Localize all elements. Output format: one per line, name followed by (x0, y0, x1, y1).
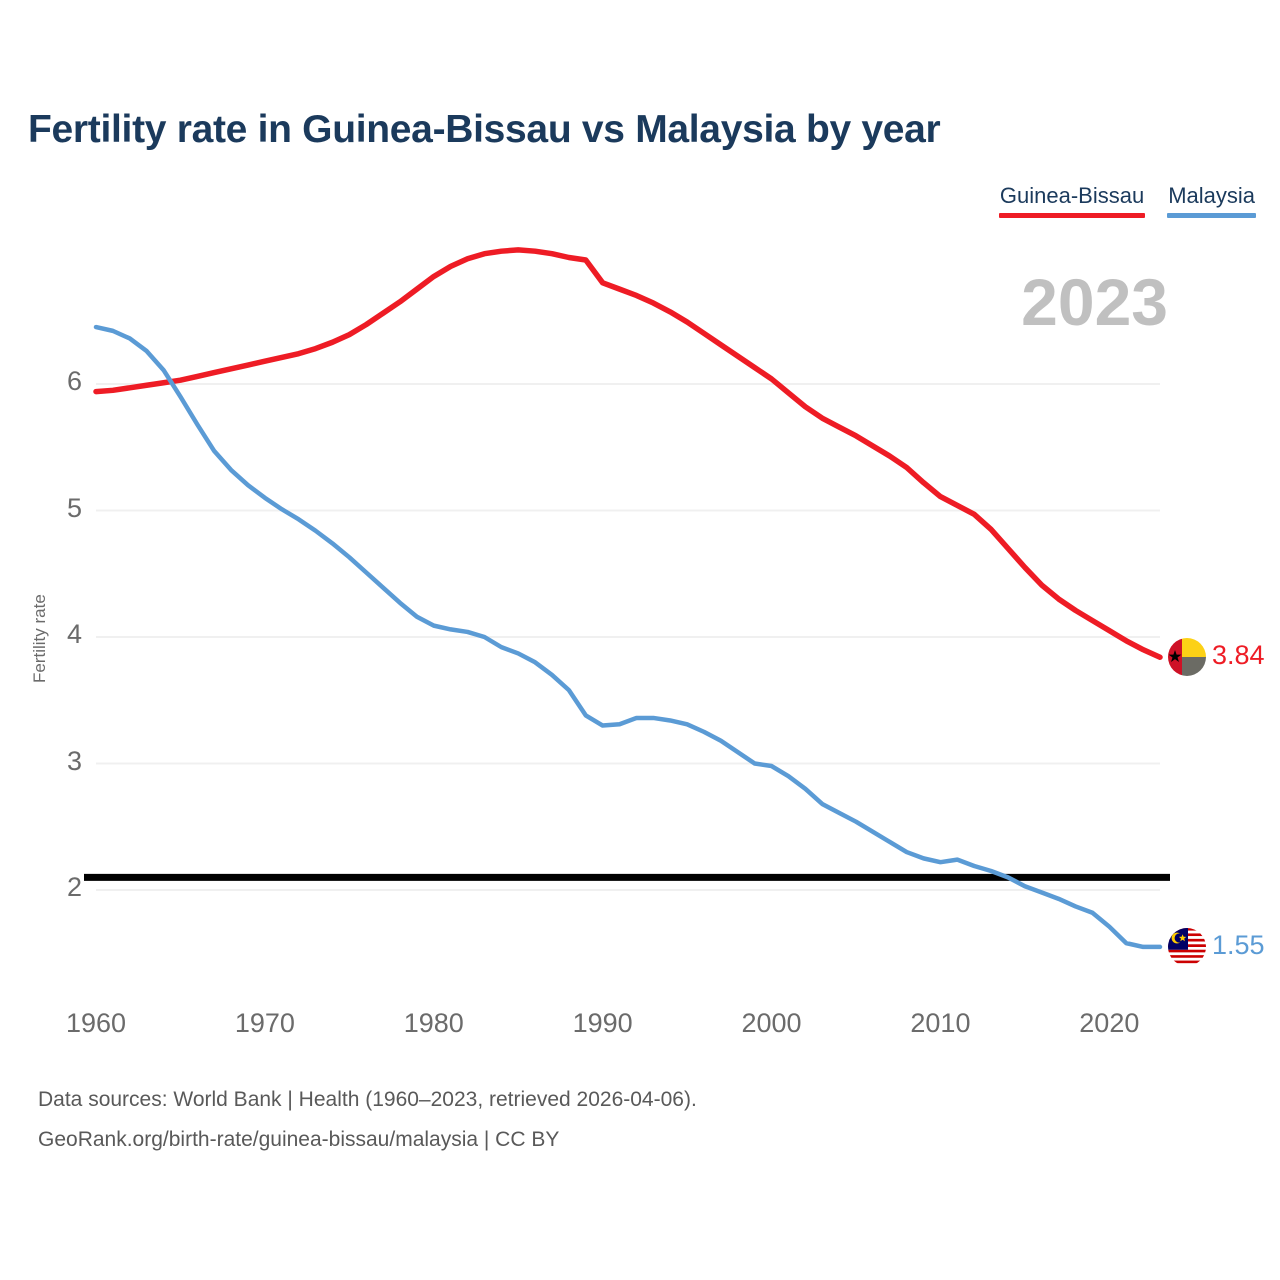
series-line-guinea-bissau (96, 250, 1160, 657)
guinea-bissau-flag-icon (1168, 638, 1206, 676)
series-end-value: 1.55 (1212, 930, 1265, 961)
footer-data-sources: Data sources: World Bank | Health (1960–… (38, 1088, 697, 1112)
series-end-value: 3.84 (1212, 640, 1265, 671)
malaysia-flag-icon (1168, 928, 1206, 966)
fertility-rate-chart: Fertility rate in Guinea-Bissau vs Malay… (0, 0, 1280, 1280)
footer-attribution: GeoRank.org/birth-rate/guinea-bissau/mal… (38, 1128, 559, 1152)
guinea-bissau-flag-icon (1168, 638, 1206, 676)
malaysia-flag-icon (1168, 928, 1206, 966)
